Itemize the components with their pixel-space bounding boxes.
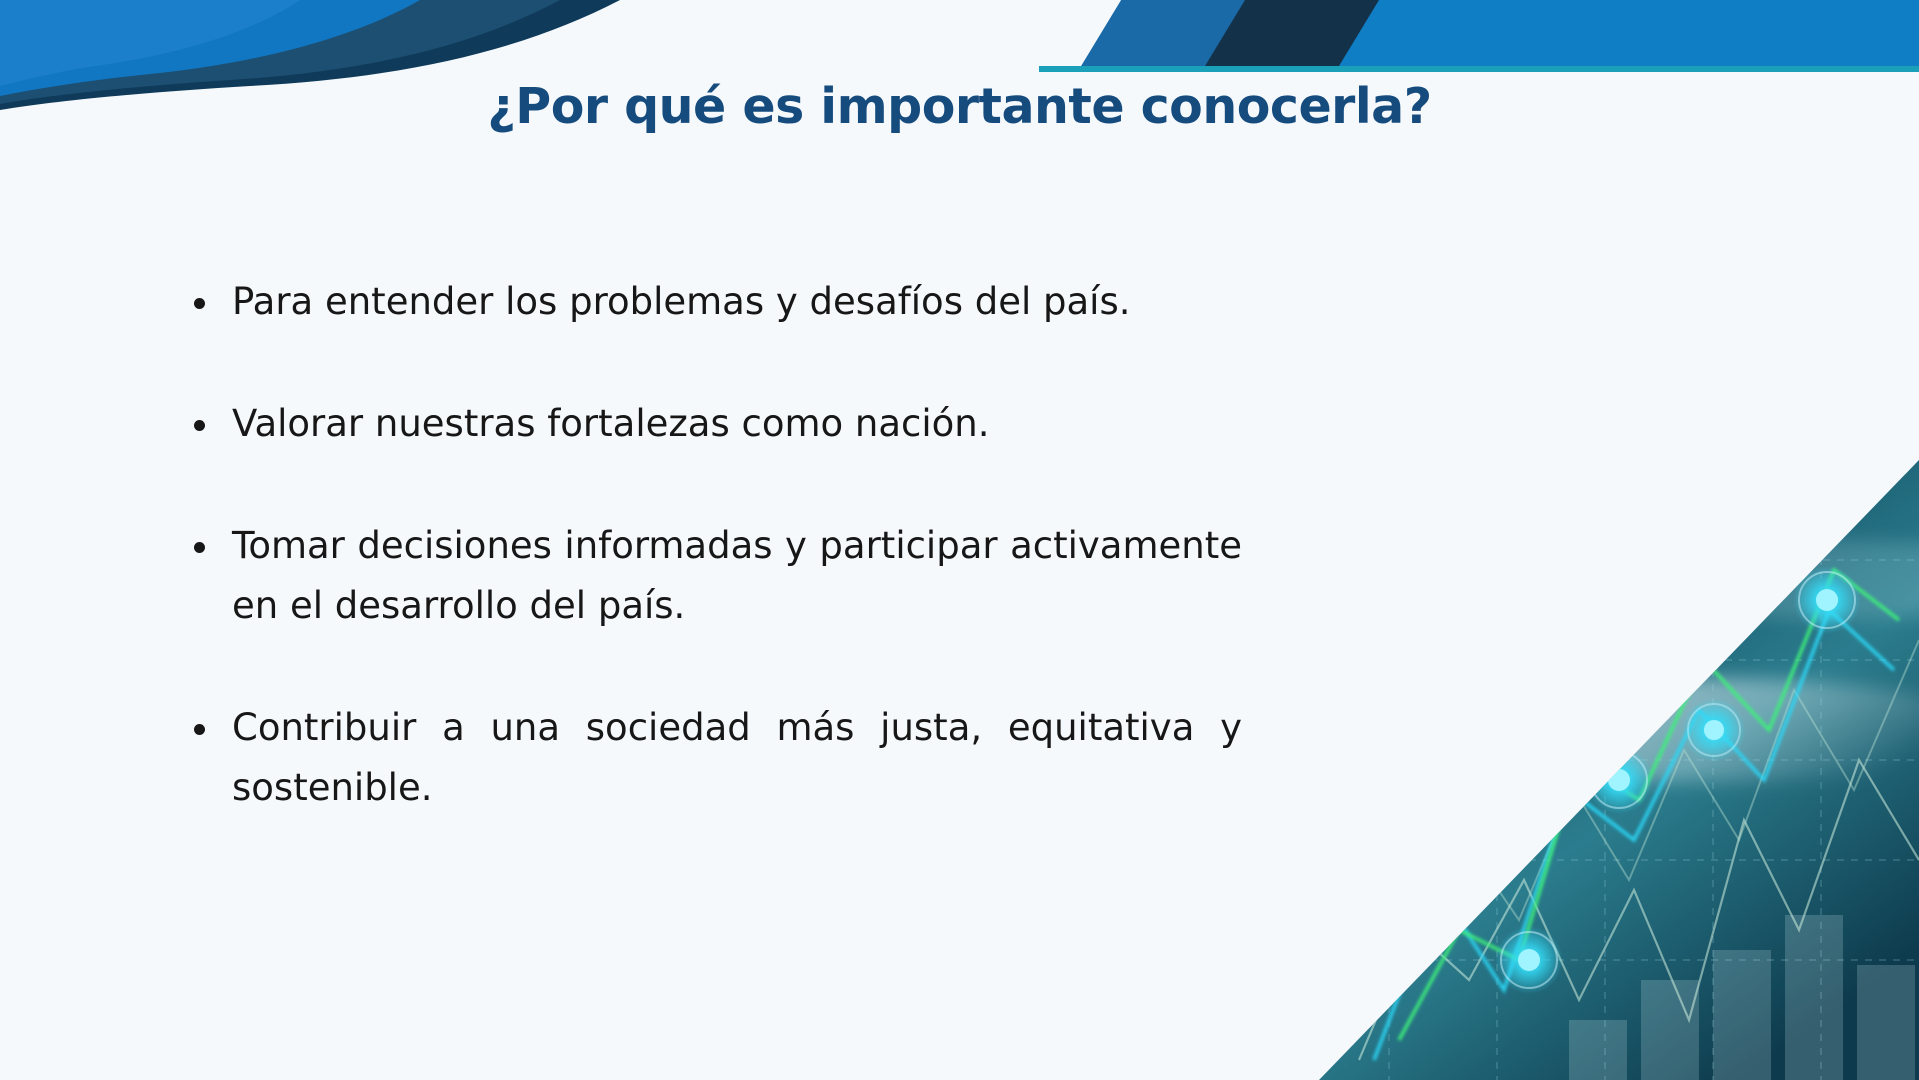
glow-nodes — [1409, 566, 1861, 994]
slide: ¿Por qué es importante conocerla? Para e… — [0, 0, 1919, 1080]
bullet-text: Tomar decisiones informadas y participar… — [232, 524, 1242, 627]
bullet-text: Para entender los problemas y desafíos d… — [232, 280, 1131, 323]
list-item: Tomar decisiones informadas y participar… — [186, 516, 1242, 636]
slide-title: ¿Por qué es importante conocerla? — [0, 78, 1919, 135]
bullet-text: Contribuir a una sociedad más justa, equ… — [232, 706, 1242, 809]
list-item: Contribuir a una sociedad más justa, equ… — [186, 698, 1242, 818]
top-right-band-decoration — [1039, 0, 1919, 72]
list-item: Valorar nuestras fortalezas como nación. — [186, 394, 1476, 454]
bullet-list: Para entender los problemas y desafíos d… — [186, 272, 1476, 818]
bullet-text: Valorar nuestras fortalezas como nación. — [232, 402, 990, 445]
list-item: Para entender los problemas y desafíos d… — [186, 272, 1476, 332]
